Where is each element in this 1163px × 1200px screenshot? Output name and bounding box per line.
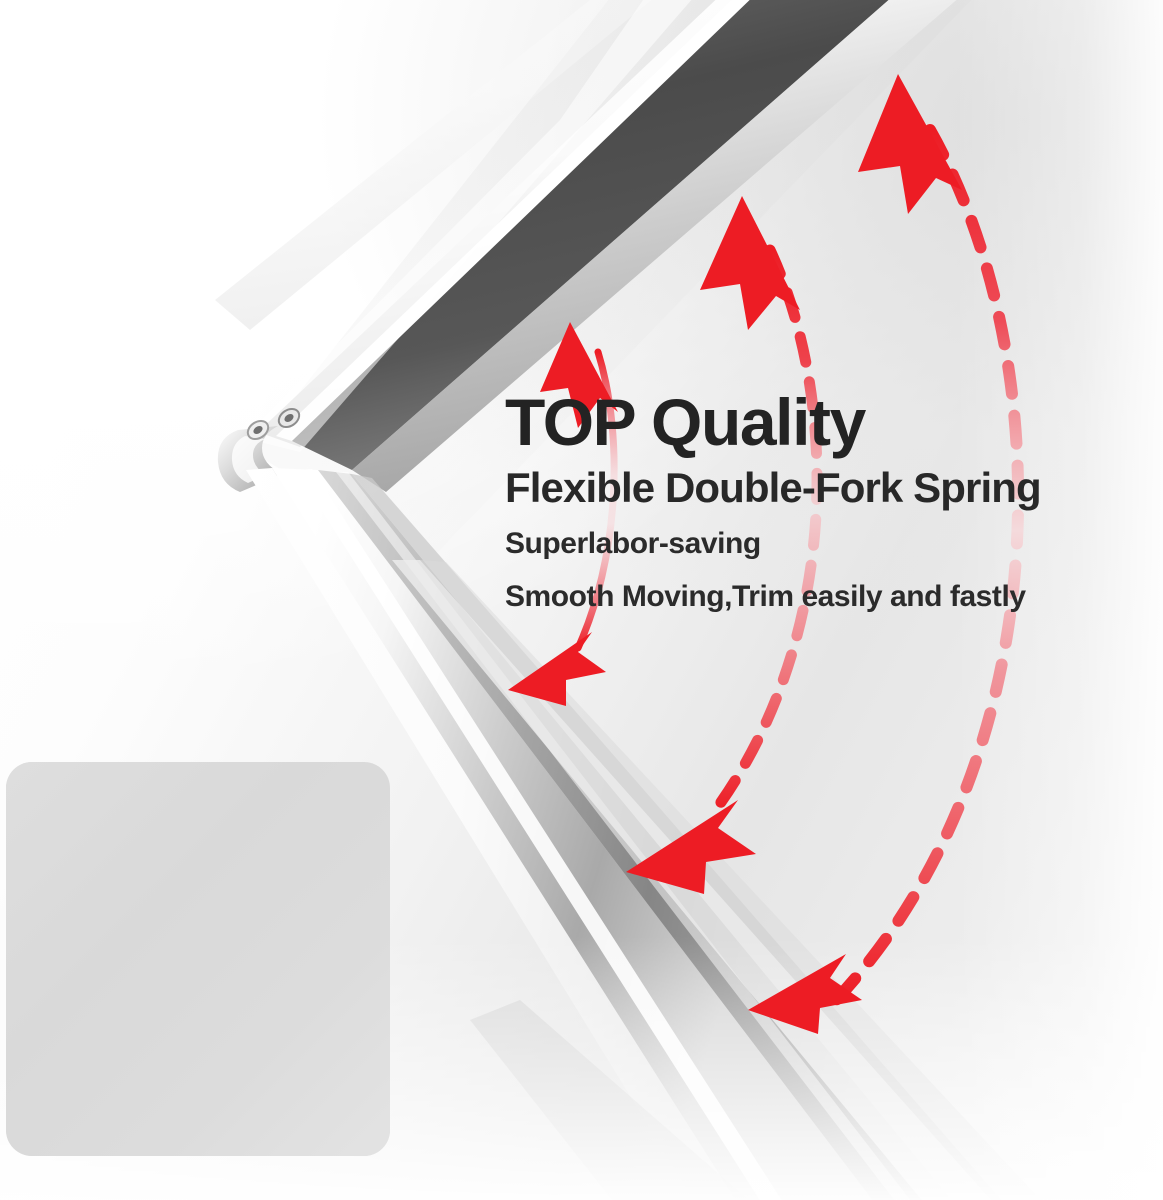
feature-line-1: Superlabor-saving: [505, 523, 1115, 564]
inset-demo-card: G: [6, 762, 390, 1156]
feature-line-2: Smooth Moving,Trim easily and fastly: [505, 576, 1115, 617]
product-marketing-image: TOP Quality Flexible Double-Fork Spring …: [0, 0, 1163, 1200]
inset-background: [6, 762, 390, 1156]
headline: TOP Quality: [505, 390, 1115, 455]
marketing-copy-block: TOP Quality Flexible Double-Fork Spring …: [505, 390, 1115, 617]
subheadline: Flexible Double-Fork Spring: [505, 464, 1115, 511]
